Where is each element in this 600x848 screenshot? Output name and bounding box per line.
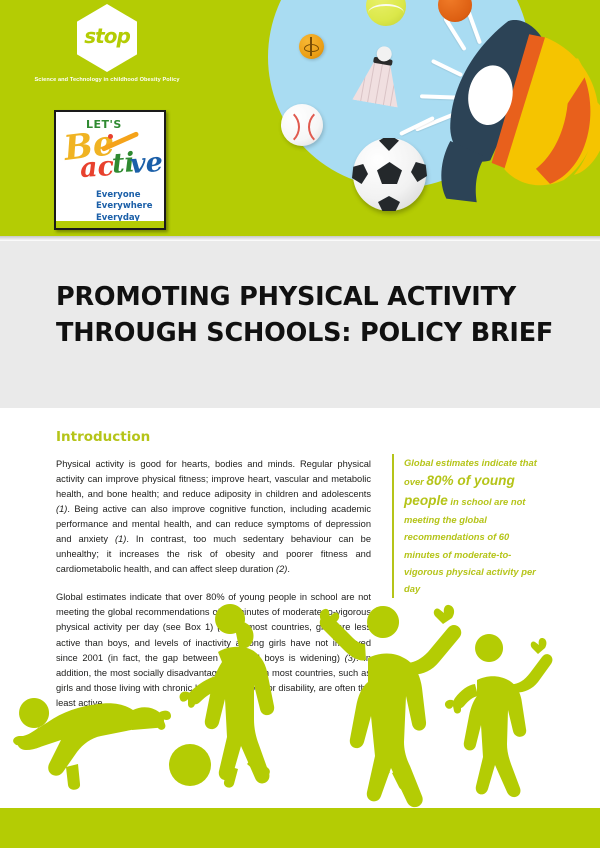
- paragraph-1: Physical activity is good for hearts, bo…: [56, 457, 371, 577]
- paragraph-2: Global estimates indicate that over 80% …: [56, 590, 371, 710]
- header-banner: stop Science and Technology in childhood…: [0, 0, 600, 236]
- stop-subtitle: Science and Technology in childhood Obes…: [22, 76, 192, 85]
- p1-part-a: Physical activity is good for hearts, bo…: [56, 459, 371, 499]
- megaphone-icon: [400, 20, 600, 220]
- title-band: PROMOTING PHYSICAL ACTIVITY THROUGH SCHO…: [0, 241, 600, 408]
- policy-brief-page: stop Science and Technology in childhood…: [0, 0, 600, 848]
- stop-wordmark: stop: [77, 24, 137, 48]
- citation-ref: (1): [115, 534, 126, 544]
- page-title-line-2: THROUGH SCHOOLS: POLICY BRIEF: [56, 315, 566, 351]
- pull-quote: Global estimates indicate that over 80% …: [392, 454, 544, 598]
- citation-ref: (3): [345, 653, 356, 663]
- section-heading-introduction: Introduction: [56, 429, 150, 445]
- logo-footer-band: [56, 221, 164, 228]
- page-title-line-1: PROMOTING PHYSICAL ACTIVITY: [56, 279, 566, 315]
- citation-ref: (1): [56, 504, 67, 514]
- body-content: Introduction Physical activity is good f…: [0, 408, 600, 808]
- logo-tagline: Everyone Everywhere Everyday: [96, 190, 152, 224]
- logo-dot: [108, 134, 113, 139]
- basketball-icon: [299, 34, 324, 59]
- logo-ac-text: ac: [79, 151, 115, 184]
- page-title: PROMOTING PHYSICAL ACTIVITY THROUGH SCHO…: [56, 279, 566, 351]
- citation-ref: (2): [276, 564, 287, 574]
- stop-hexagon-icon: stop: [77, 4, 137, 72]
- body-text-column: Physical activity is good for hearts, bo…: [56, 457, 371, 724]
- p1-part-d: .: [287, 564, 290, 574]
- logo-ve-text: ve: [129, 147, 164, 180]
- footer-band: [0, 808, 600, 848]
- baseball-icon: [281, 104, 323, 146]
- stop-logo: stop: [77, 4, 137, 74]
- pull-quote-tail: in school are not meeting the global rec…: [404, 496, 536, 594]
- citation-ref: (3): [217, 622, 228, 632]
- lets-be-active-logo: LET'S Be ac ti ve Everyone Everywhere Ev…: [54, 110, 166, 230]
